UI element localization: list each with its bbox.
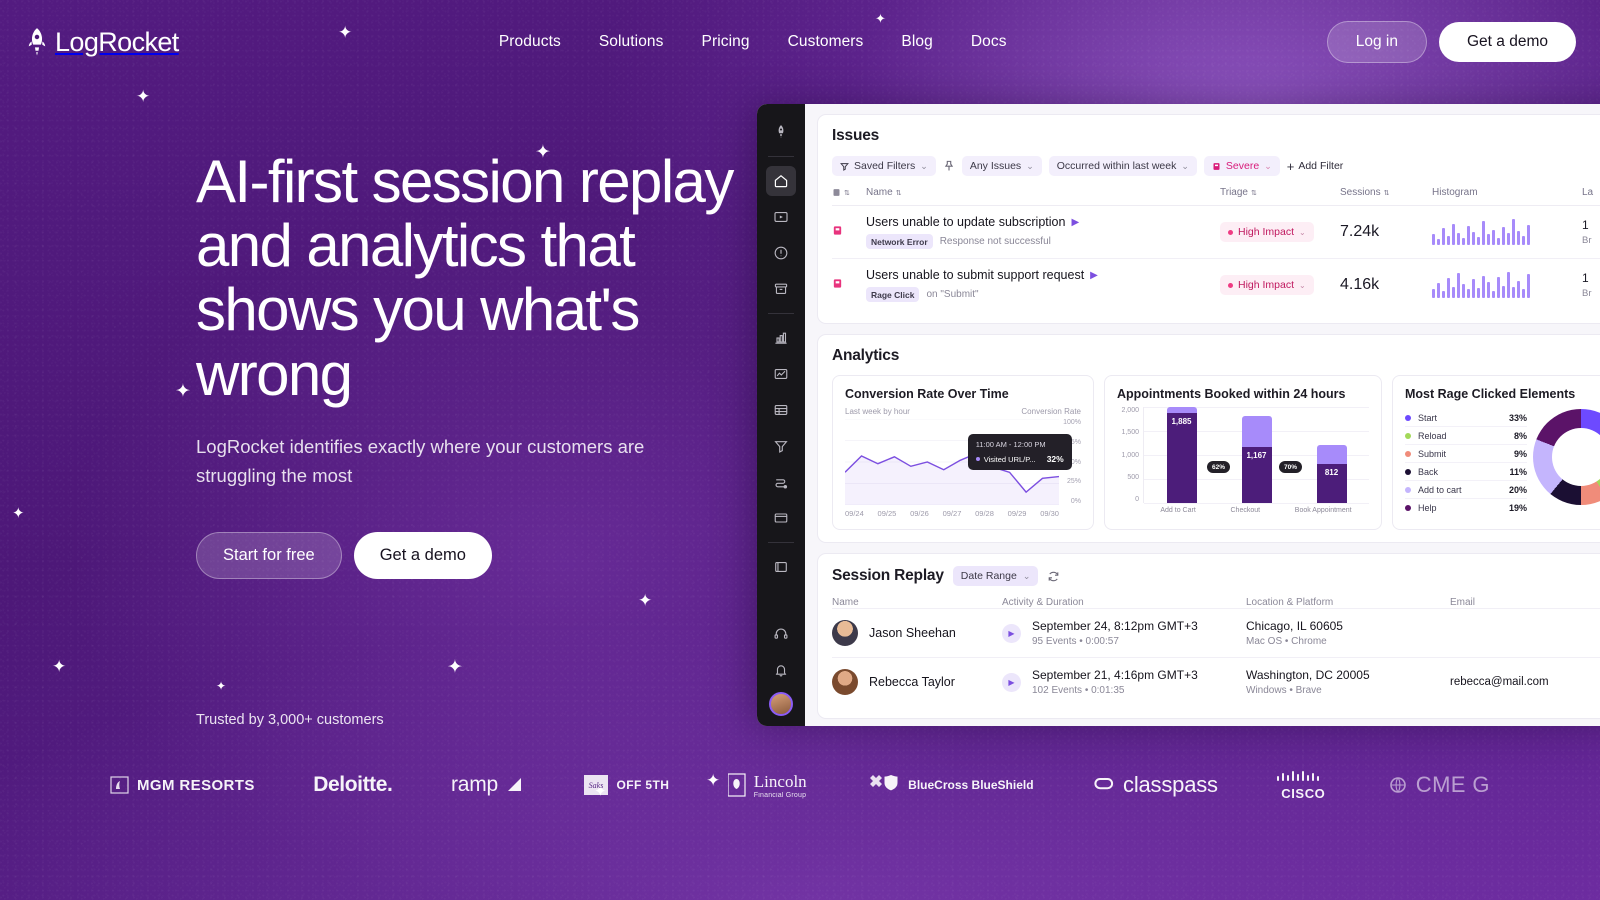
avatar (832, 669, 858, 695)
rail-issues-alert-icon[interactable] (766, 238, 796, 268)
start-for-free-button[interactable]: Start for free (196, 532, 342, 579)
chevron-down-icon: ⌄ (1181, 161, 1189, 172)
user-avatar[interactable] (769, 692, 793, 716)
step-percent-badge: 62% (1207, 461, 1230, 473)
add-filter-button[interactable]: + Add Filter (1287, 159, 1344, 174)
issue-triage-cell: High Impact ⌄ (1220, 275, 1340, 296)
chart-xlabel: Last week by hour (845, 407, 910, 416)
customer-logo-label: MGM RESORTS (137, 777, 255, 794)
rail-bell-icon[interactable] (766, 655, 796, 685)
tooltip-value: 32% (1047, 454, 1064, 464)
login-button[interactable]: Log in (1327, 21, 1427, 63)
session-location: Chicago, IL 60605 (1246, 619, 1450, 633)
table-row[interactable]: Users unable to update subscription ▶ Ne… (832, 206, 1600, 259)
issues-table: ⇅ Name⇅ Triage⇅ Sessions⇅ Histogram La (832, 187, 1600, 311)
chevron-down-icon: ⌄ (920, 161, 928, 172)
rail-divider (768, 156, 794, 157)
filter-severity[interactable]: Severe ⌄ (1204, 156, 1280, 176)
get-demo-button[interactable]: Get a demo (1439, 22, 1576, 62)
play-icon[interactable]: ▶ (1071, 217, 1079, 228)
line-chart-plot: 100% 75% 50% 25% 0% 11:00 AM - 12:00 PM … (845, 419, 1081, 505)
list-item: Help19% (1405, 499, 1527, 516)
session-email: rebecca@mail.com (1450, 676, 1600, 688)
chart-title: Appointments Booked within 24 hours (1117, 387, 1369, 401)
trusted-by-text: Trusted by 3,000+ customers (196, 712, 384, 728)
mgm-icon (110, 775, 130, 795)
rail-bar-chart-icon[interactable] (766, 323, 796, 353)
customer-logo-lincoln: Lincoln Financial Group (728, 772, 807, 799)
customer-logo-strip: MGM RESORTS Deloitte. ramp Saks OFF 5TH … (0, 755, 1600, 815)
chart-title: Most Rage Clicked Elements (1405, 387, 1600, 401)
customer-logo-label: OFF 5TH (617, 779, 670, 792)
appointments-booked-chart: Appointments Booked within 24 hours 2,00… (1104, 375, 1382, 530)
rail-divider (768, 542, 794, 543)
nav-item-docs[interactable]: Docs (971, 33, 1007, 51)
triage-label: High Impact (1238, 279, 1294, 291)
bar-chart-yaxis: 2,000 1,500 1,000 500 0 (1117, 407, 1143, 503)
list-item: Submit9% (1405, 445, 1527, 463)
list-item: Reload8% (1405, 427, 1527, 445)
customer-logo-label: CME G (1416, 772, 1490, 798)
session-replay-title: Session Replay (832, 567, 944, 585)
customer-logo-classpass: classpass (1092, 772, 1218, 798)
nav-item-blog[interactable]: Blog (901, 33, 932, 51)
table-row[interactable]: Users unable to submit support request ▶… (832, 259, 1600, 311)
tooltip-series: Visited URL/P... (984, 455, 1036, 464)
cme-group-icon (1389, 775, 1409, 795)
session-time: September 24, 8:12pm GMT+3 (1032, 619, 1198, 633)
lincoln-icon (728, 773, 747, 797)
session-activity: 95 Events • 0:00:57 (1032, 636, 1198, 647)
rail-table-icon[interactable] (766, 395, 796, 425)
severity-icon (832, 276, 866, 294)
list-item: Start33% (1405, 409, 1527, 427)
ramp-icon (505, 776, 525, 794)
tooltip-dot (976, 457, 980, 461)
customer-logo-sublabel: Financial Group (754, 792, 806, 799)
analytics-card: Analytics Conversion Rate Over Time Last… (817, 334, 1600, 543)
rage-clicked-elements-chart: Most Rage Clicked Elements Start33% Relo… (1392, 375, 1600, 530)
rail-archive-icon[interactable] (766, 274, 796, 304)
rage-click-legend: Start33% Reload8% Submit9% Back11% Add t… (1405, 409, 1527, 516)
session-replay-header: Session Replay Date Range ⌄ (832, 566, 1600, 586)
step-percent-badge: 70% (1279, 461, 1302, 473)
customer-logo-saks-off-5th: Saks OFF 5TH (584, 774, 670, 796)
severity-icon (1212, 162, 1221, 171)
rail-divider (768, 313, 794, 314)
col-name[interactable]: Name⇅ (866, 187, 1220, 198)
product-dashboard-screenshot: Issues Saved Filters ⌄ Any Issues ⌄ Occu… (757, 104, 1600, 726)
session-time: September 21, 4:16pm GMT+3 (1032, 668, 1198, 682)
triage-label: High Impact (1238, 226, 1294, 238)
hero-heading: AI-first session replay and analytics th… (196, 150, 756, 407)
filter-label: Any Issues (970, 160, 1021, 172)
tooltip-range: 11:00 AM - 12:00 PM (976, 440, 1064, 449)
customer-logo-cme-group: CME G (1389, 772, 1490, 798)
hero-section: AI-first session replay and analytics th… (196, 150, 756, 579)
chevron-down-icon: ⌄ (1264, 161, 1272, 172)
issue-triage-cell: High Impact ⌄ (1220, 222, 1340, 243)
cisco-icon (1276, 770, 1330, 784)
hero-subheading: LogRocket identifies exactly where your … (196, 433, 716, 491)
bar-chart-plot: 2,000 1,500 1,000 500 0 1,885 (1117, 407, 1369, 503)
issue-tag: Rage Click (866, 287, 919, 302)
chevron-down-icon: ⌄ (1299, 281, 1306, 290)
filter-saved-filters[interactable]: Saved Filters ⌄ (832, 156, 936, 176)
table-row[interactable]: Rebecca Taylor ▶ September 21, 4:16pm GM… (832, 657, 1600, 706)
rail-book-icon[interactable] (766, 552, 796, 582)
customer-logo-cisco: CISCO (1276, 770, 1330, 801)
chevron-down-icon: ⌄ (1026, 161, 1034, 172)
filter-icon (840, 162, 849, 171)
customer-logo-mgm: MGM RESORTS (110, 775, 255, 795)
session-location: Washington, DC 20005 (1246, 668, 1450, 682)
issue-histogram (1432, 272, 1582, 298)
nav-item-pricing[interactable]: Pricing (702, 33, 750, 51)
triage-dropdown[interactable]: High Impact ⌄ (1220, 275, 1314, 295)
issue-sessions: 4.16k (1340, 276, 1432, 294)
customer-logo-ramp: ramp (451, 773, 525, 797)
status-dot (1228, 283, 1233, 288)
rail-line-chart-icon[interactable] (766, 359, 796, 389)
analytics-title: Analytics (832, 347, 1600, 365)
nav-links: Products Solutions Pricing Customers Blo… (499, 33, 1007, 51)
col-sessions[interactable]: Sessions⇅ (1340, 187, 1432, 198)
issues-card: Issues Saved Filters ⌄ Any Issues ⌄ Occu… (817, 114, 1600, 324)
customer-logo-label: Deloitte. (313, 773, 392, 797)
customer-logo-label: CISCO (1281, 786, 1325, 801)
list-item: Back11% (1405, 463, 1527, 481)
nav-item-solutions[interactable]: Solutions (599, 33, 664, 51)
rail-funnel-icon[interactable] (766, 431, 796, 461)
customer-logo-label: classpass (1123, 772, 1218, 798)
issues-filter-bar: Saved Filters ⌄ Any Issues ⌄ Occurred wi… (832, 156, 1600, 176)
issue-tag: Network Error (866, 234, 933, 249)
conversion-rate-chart: Conversion Rate Over Time Last week by h… (832, 375, 1094, 530)
rail-headset-icon[interactable] (766, 619, 796, 649)
nav-item-products[interactable]: Products (499, 33, 561, 51)
session-platform: Mac OS • Chrome (1246, 636, 1450, 647)
saks-off-5th-icon: Saks (584, 774, 610, 796)
play-icon[interactable]: ▶ (1002, 673, 1021, 692)
avatar (832, 620, 858, 646)
issue-last-seen: 1 Br (1582, 271, 1600, 299)
issue-subtext: on "Submit" (926, 289, 978, 300)
issue-sessions: 7.24k (1340, 223, 1432, 241)
rail-session-replay-icon[interactable] (766, 202, 796, 232)
session-replay-table-header: Name Activity & Duration Location & Plat… (832, 597, 1600, 608)
triage-dropdown[interactable]: High Impact ⌄ (1220, 222, 1314, 242)
hero-get-demo-button[interactable]: Get a demo (354, 532, 492, 579)
filter-label: Severe (1226, 160, 1259, 172)
customer-logo-label: Lincoln (754, 772, 807, 792)
dashboard-sidebar (757, 104, 805, 726)
table-row[interactable]: Jason Sheehan ▶ September 24, 8:12pm GMT… (832, 608, 1600, 657)
col-histogram: Histogram (1432, 187, 1582, 198)
issue-name-cell: Users unable to update subscription ▶ Ne… (866, 215, 1220, 249)
top-navigation: LogRocket Products Solutions Pricing Cus… (0, 0, 1600, 84)
date-range-label: Date Range (961, 570, 1017, 582)
bar-chart-bars: 1,885 1,167 812 (1144, 407, 1369, 503)
col-triage[interactable]: Triage⇅ (1220, 187, 1340, 198)
line-chart-xaxis: 09/24 09/25 09/26 09/27 09/28 09/29 09/3… (845, 509, 1081, 518)
col-last-seen: La (1582, 187, 1600, 198)
chart-tooltip: 11:00 AM - 12:00 PM Visited URL/P... 32% (968, 434, 1072, 470)
issue-subtext: Response not successful (940, 236, 1051, 247)
session-platform: Windows • Brave (1246, 685, 1450, 696)
issue-title: Users unable to update subscription (866, 215, 1065, 229)
severity-icon (832, 188, 841, 197)
session-user-name: Rebecca Taylor (869, 675, 955, 689)
play-icon[interactable]: ▶ (1002, 624, 1021, 643)
filter-label: Occurred within last week (1057, 160, 1177, 172)
customer-logo-label: BlueCross BlueShield (908, 779, 1033, 792)
session-activity: 102 Events • 0:01:35 (1032, 685, 1198, 696)
chart-ylabel: Conversion Rate (1021, 407, 1081, 416)
customer-logo-deloitte: Deloitte. (313, 773, 392, 797)
issue-name-cell: Users unable to submit support request ▶… (866, 268, 1220, 302)
session-user-name: Jason Sheehan (869, 626, 956, 640)
analytics-charts: Conversion Rate Over Time Last week by h… (832, 375, 1600, 530)
logo-home-link[interactable]: LogRocket (24, 27, 179, 58)
rail-rocket-logo-icon[interactable] (766, 117, 796, 147)
issues-title: Issues (832, 127, 1600, 145)
bar-chart-xaxis: Add to Cart Checkout Book Appointment (1117, 507, 1369, 514)
issue-last-seen: 1 Br (1582, 218, 1600, 246)
col-severity[interactable]: ⇅ (832, 187, 866, 198)
issues-table-header: ⇅ Name⇅ Triage⇅ Sessions⇅ Histogram La (832, 187, 1600, 206)
plus-icon: + (1287, 159, 1295, 174)
customer-logo-bluecross: BlueCross BlueShield (865, 774, 1033, 796)
chart-title: Conversion Rate Over Time (845, 387, 1081, 401)
rail-home-icon[interactable] (766, 166, 796, 196)
status-dot (1228, 230, 1233, 235)
rocket-icon (24, 27, 50, 57)
rage-click-donut (1533, 409, 1600, 505)
pin-icon[interactable] (943, 160, 955, 172)
filter-label: Saved Filters (854, 160, 915, 172)
rail-window-icon[interactable] (766, 503, 796, 533)
logo-text: LogRocket (55, 27, 179, 58)
customer-logo-label: ramp (451, 773, 498, 797)
filter-any-issues[interactable]: Any Issues ⌄ (962, 156, 1042, 176)
chevron-down-icon: ⌄ (1023, 571, 1031, 582)
rail-path-icon[interactable] (766, 467, 796, 497)
chevron-down-icon: ⌄ (1299, 228, 1306, 237)
add-filter-label: Add Filter (1298, 160, 1343, 172)
severity-icon (832, 223, 866, 241)
issue-title: Users unable to submit support request (866, 268, 1084, 282)
hero-cta-group: Start for free Get a demo (196, 532, 756, 579)
classpass-icon (1092, 775, 1116, 795)
dashboard-content: Issues Saved Filters ⌄ Any Issues ⌄ Occu… (805, 104, 1600, 726)
session-replay-card: Session Replay Date Range ⌄ Name Activit… (817, 553, 1600, 719)
play-icon[interactable]: ▶ (1090, 270, 1098, 281)
refresh-icon[interactable] (1047, 570, 1060, 583)
nav-actions: Log in Get a demo (1327, 21, 1576, 63)
issue-histogram (1432, 219, 1582, 245)
list-item: Add to cart20% (1405, 481, 1527, 499)
date-range-dropdown[interactable]: Date Range ⌄ (953, 566, 1039, 586)
nav-item-customers[interactable]: Customers (788, 33, 864, 51)
svg-text:Saks: Saks (588, 781, 603, 790)
filter-occurred-within[interactable]: Occurred within last week ⌄ (1049, 156, 1197, 176)
bluecross-icon (865, 774, 901, 796)
